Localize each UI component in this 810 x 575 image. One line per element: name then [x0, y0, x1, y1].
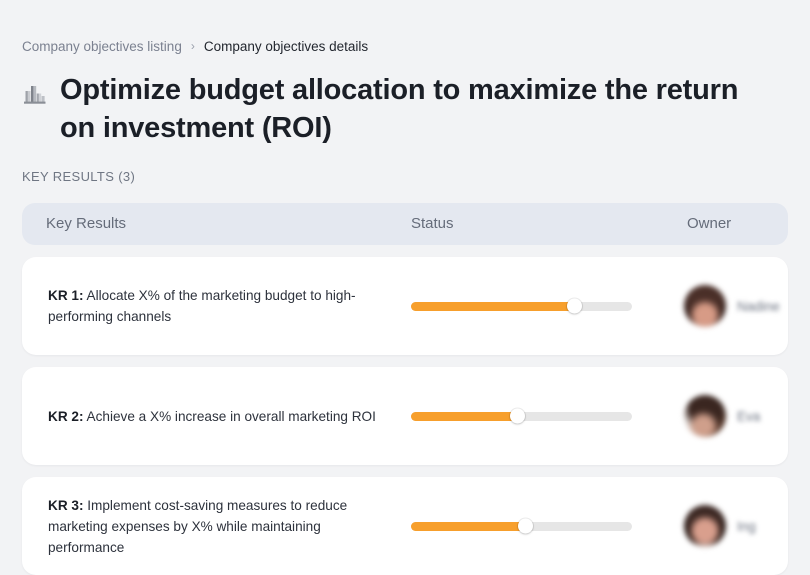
progress-slider[interactable] [411, 302, 632, 311]
owner-name: Nadine [737, 299, 780, 314]
page-title: Optimize budget allocation to maximize t… [60, 71, 780, 147]
avatar [684, 505, 726, 547]
key-result-text: KR 3: Implement cost-saving measures to … [22, 495, 410, 558]
key-result-label: KR 1: [48, 288, 84, 303]
key-result-label: KR 2: [48, 409, 84, 424]
progress-slider-fill [411, 412, 517, 421]
table-row[interactable]: KR 2: Achieve a X% increase in overall m… [22, 367, 788, 465]
breadcrumb-current: Company objectives details [204, 38, 368, 56]
column-header-key-results: Key Results [22, 214, 410, 234]
column-header-owner: Owner [660, 214, 788, 234]
progress-slider-knob[interactable] [567, 299, 582, 314]
key-result-description: Achieve a X% increase in overall marketi… [84, 409, 376, 424]
key-result-description: Allocate X% of the marketing budget to h… [48, 288, 356, 324]
progress-slider-knob[interactable] [510, 409, 525, 424]
cityscape-icon [22, 77, 48, 111]
owner-name: Eva [737, 409, 760, 424]
table-row[interactable]: KR 3: Implement cost-saving measures to … [22, 477, 788, 575]
breadcrumb: Company objectives listing › Company obj… [22, 0, 788, 56]
progress-slider-knob[interactable] [518, 519, 533, 534]
key-results-section-label: KEY RESULTS (3) [22, 169, 788, 185]
status-cell [410, 522, 660, 531]
key-results-table: Key Results Status Owner KR 1: Allocate … [22, 203, 788, 575]
status-cell [410, 302, 660, 311]
progress-slider[interactable] [411, 412, 632, 421]
owner-cell[interactable]: Eva [660, 395, 788, 437]
column-header-status: Status [410, 214, 660, 234]
objective-details-page: Company objectives listing › Company obj… [0, 0, 810, 546]
owner-cell[interactable]: Nadine [660, 285, 788, 327]
chevron-right-icon: › [191, 40, 195, 52]
avatar [684, 395, 726, 437]
key-result-label: KR 3: [48, 498, 84, 513]
owner-cell[interactable]: Ing [660, 505, 788, 547]
status-cell [410, 412, 660, 421]
progress-slider-fill [411, 302, 575, 311]
key-result-text: KR 1: Allocate X% of the marketing budge… [22, 285, 410, 327]
progress-slider-fill [411, 522, 526, 531]
table-header-row: Key Results Status Owner [22, 203, 788, 245]
avatar [684, 285, 726, 327]
progress-slider[interactable] [411, 522, 632, 531]
key-result-text: KR 2: Achieve a X% increase in overall m… [22, 406, 410, 427]
breadcrumb-parent-link[interactable]: Company objectives listing [22, 38, 182, 56]
table-row[interactable]: KR 1: Allocate X% of the marketing budge… [22, 257, 788, 355]
page-title-row: Optimize budget allocation to maximize t… [22, 71, 788, 147]
owner-name: Ing [737, 519, 756, 534]
